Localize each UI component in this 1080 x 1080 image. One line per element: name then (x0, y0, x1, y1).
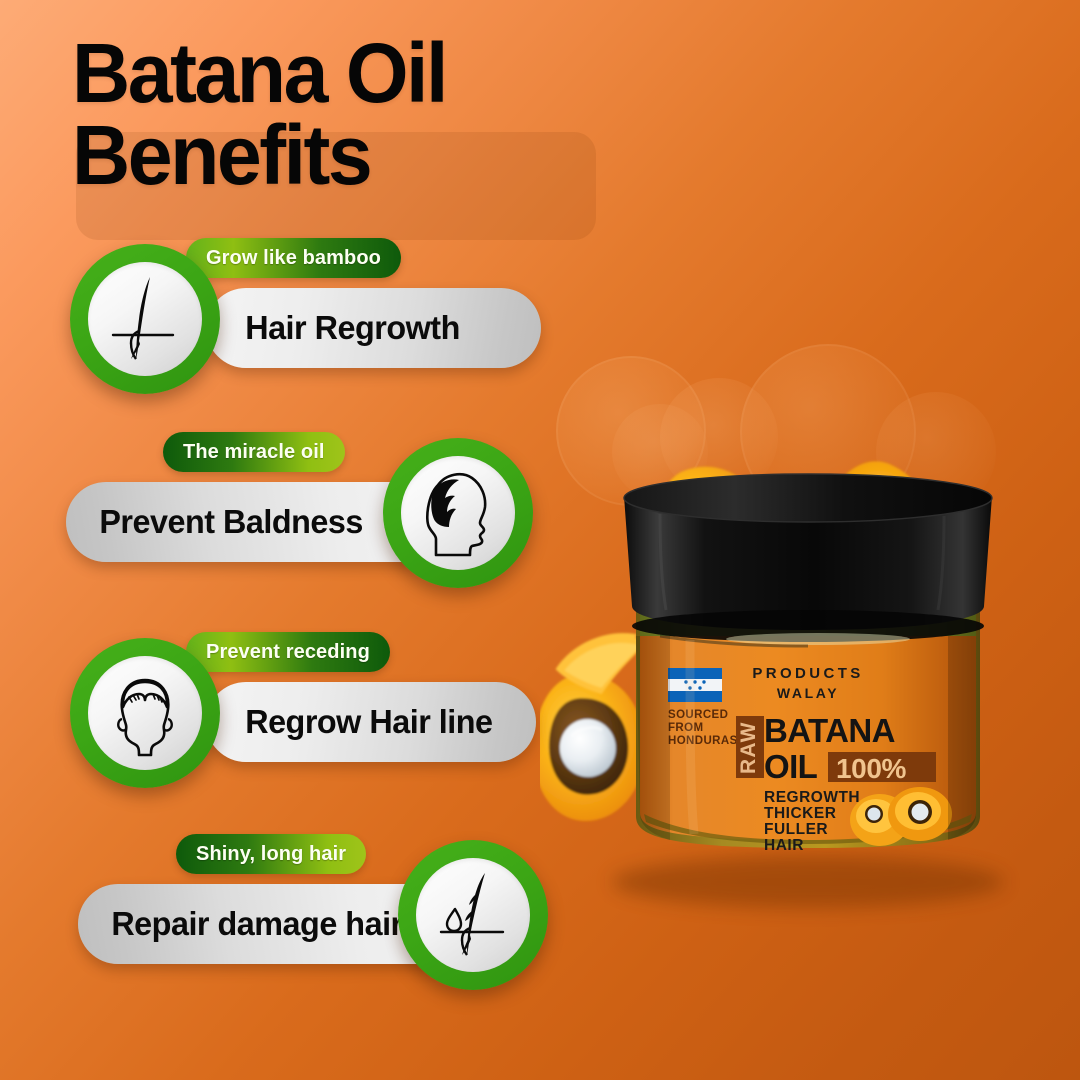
benefit-bar-3: Regrow Hair line (206, 682, 536, 762)
svg-text:BATANA: BATANA (764, 712, 895, 749)
benefit-tag-1: Grow like bamboo (186, 238, 401, 278)
head-front-receding-hairline-icon (88, 656, 202, 770)
benefit-tag-4: Shiny, long hair (176, 834, 366, 874)
svg-text:WALAY: WALAY (777, 685, 839, 701)
svg-text:PRODUCTS: PRODUCTS (752, 665, 863, 682)
poster-canvas: Batana Oil Benefits Grow like bamboo Hai… (0, 0, 1080, 1080)
benefit-icon-4 (398, 840, 548, 990)
svg-text:REGROWTH: REGROWTH (764, 789, 860, 806)
benefit-row-4: Shiny, long hair Repair damage hair (0, 832, 560, 982)
benefit-tag-3: Prevent receding (186, 632, 390, 672)
benefit-row-3: Prevent receding Regrow Hair line (0, 630, 560, 780)
page-title: Batana Oil Benefits (72, 34, 712, 194)
svg-text:100%: 100% (836, 753, 907, 784)
head-profile-balding-icon (401, 456, 515, 570)
hair-follicle-icon (88, 262, 202, 376)
hair-strand-oil-drop-icon (416, 858, 530, 972)
benefit-icon-3 (70, 638, 220, 788)
benefit-title-4: Repair damage hair (78, 905, 403, 943)
svg-text:HAIR: HAIR (764, 837, 804, 854)
benefit-title-2: Prevent Baldness (66, 503, 363, 541)
benefit-row-2: The miracle oil Prevent Baldness (0, 430, 560, 580)
benefit-title-1: Hair Regrowth (206, 309, 460, 347)
benefit-icon-1 (70, 244, 220, 394)
title-line-2: Benefits (72, 116, 686, 194)
benefit-tag-2: The miracle oil (163, 432, 345, 472)
svg-text:OIL: OIL (764, 748, 818, 785)
title-line-1: Batana Oil (72, 34, 686, 112)
benefit-bar-1: Hair Regrowth (206, 288, 541, 368)
svg-text:HONDURAS: HONDURAS (668, 735, 738, 747)
svg-text:RAW: RAW (737, 721, 760, 774)
benefit-icon-2 (383, 438, 533, 588)
svg-text:SOURCED: SOURCED (668, 709, 728, 721)
benefit-row-1: Grow like bamboo Hair Regrowth (0, 236, 560, 386)
benefit-title-3: Regrow Hair line (206, 703, 493, 741)
product-photo: SOURCED FROM HONDURAS PRODUCTS WALAY RAW… (540, 430, 1080, 930)
svg-text:FULLER: FULLER (764, 821, 828, 838)
honduras-flag-icon (668, 668, 722, 702)
svg-text:THICKER: THICKER (764, 805, 836, 822)
